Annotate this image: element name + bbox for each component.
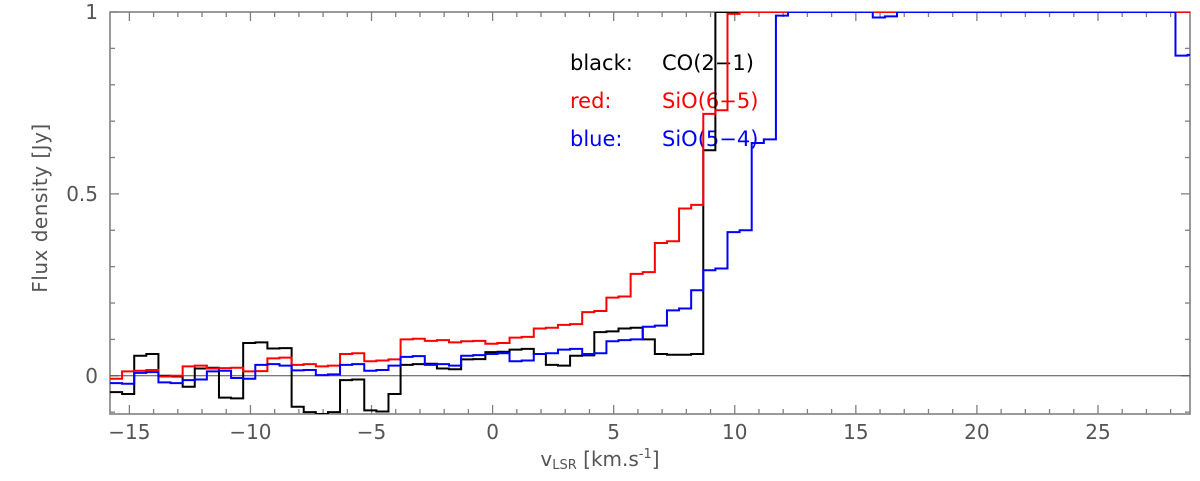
plot-canvas — [0, 0, 1200, 481]
series-line-sio5-4 — [110, 12, 1200, 385]
series-line-co2-1 — [110, 12, 1200, 414]
axis-frame — [110, 12, 1190, 414]
series-line-sio6-5 — [110, 12, 1200, 379]
axis-ticks — [110, 12, 1190, 414]
spectrum-figure: Flux density [Jy] vLSR [km.s-1] black: C… — [0, 0, 1200, 481]
data-series-group — [110, 12, 1200, 414]
